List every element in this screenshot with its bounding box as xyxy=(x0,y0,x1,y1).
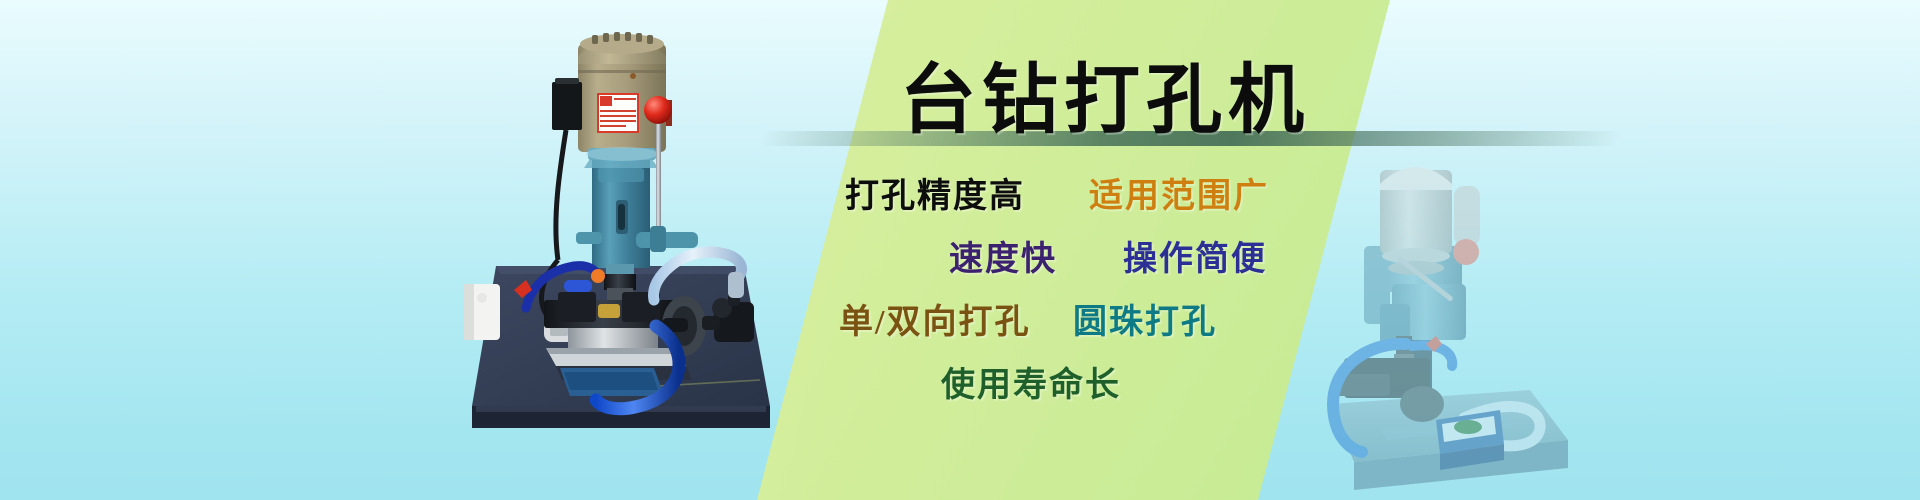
feature-row-4: 使用寿命长 xyxy=(845,357,1345,420)
feature-item: 使用寿命长 xyxy=(941,357,1121,406)
feature-row-1: 打孔精度高 适用范围广 xyxy=(845,168,1345,231)
feature-item: 操作简便 xyxy=(1123,231,1267,280)
feature-item: 打孔精度高 xyxy=(845,168,1025,217)
feature-item: 速度快 xyxy=(949,231,1057,280)
bench-drill-machine-main-image xyxy=(440,8,800,468)
feature-item: 适用范围广 xyxy=(1089,168,1269,217)
page-title: 台钻打孔机 xyxy=(900,38,1310,148)
feature-row-3: 单/双向打孔 圆珠打孔 xyxy=(845,294,1345,357)
product-banner: 台钻打孔机 打孔精度高 适用范围广 速度快 操作简便 单/双向打孔 圆珠打孔 使… xyxy=(0,0,1920,500)
bench-drill-machine-secondary-image xyxy=(1318,128,1618,500)
feature-item: 圆珠打孔 xyxy=(1073,294,1217,343)
feature-list: 打孔精度高 适用范围广 速度快 操作简便 单/双向打孔 圆珠打孔 使用寿命长 xyxy=(845,168,1345,420)
feature-item: 单/双向打孔 xyxy=(839,294,1030,343)
feature-row-2: 速度快 操作简便 xyxy=(845,231,1345,294)
